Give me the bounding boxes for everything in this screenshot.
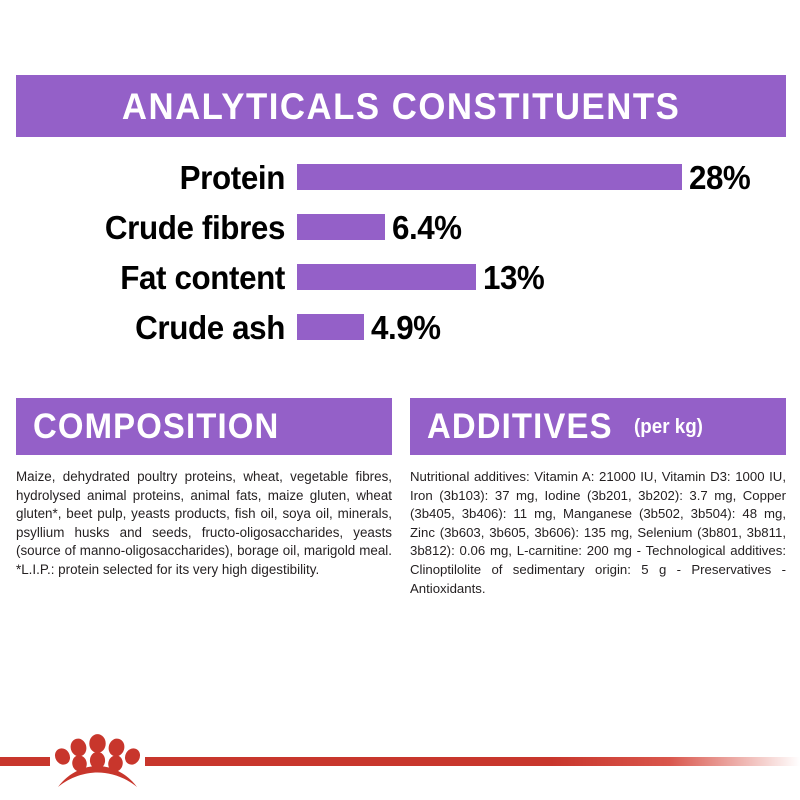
chart-row-crude-ash: Crude ash 4.9% (0, 302, 800, 352)
bar-track-crude-ash: 4.9% (297, 302, 445, 352)
bar-track-protein: 28% (297, 152, 754, 202)
additives-title: ADDITIVES (427, 409, 613, 444)
bar-fill-protein (297, 164, 682, 190)
bar-track-crude-fibres: 6.4% (297, 202, 465, 252)
additives-unit-label: (per kg) (634, 417, 703, 437)
chart-row-crude-fibres: Crude fibres 6.4% (0, 202, 800, 252)
footer-rule-left (0, 757, 50, 766)
bar-fill-fat-content (297, 264, 476, 290)
composition-text: Maize, dehydrated poultry proteins, whea… (16, 468, 392, 580)
bar-label-crude-ash: Crude ash (14, 302, 285, 352)
composition-panel: COMPOSITION Maize, dehydrated poultry pr… (16, 398, 392, 580)
bar-value-crude-fibres: 6.4% (392, 211, 462, 244)
bar-label-protein: Protein (14, 152, 285, 202)
additives-banner: ADDITIVES (per kg) (410, 398, 786, 455)
bar-label-crude-fibres: Crude fibres (14, 202, 285, 252)
bar-label-fat-content: Fat content (14, 252, 285, 302)
composition-banner: COMPOSITION (16, 398, 392, 455)
bar-fill-crude-ash (297, 314, 364, 340)
additives-panel: ADDITIVES (per kg) Nutritional additives… (410, 398, 786, 598)
bar-value-crude-ash: 4.9% (371, 311, 441, 344)
bar-value-fat-content: 13% (483, 261, 544, 294)
composition-title: COMPOSITION (33, 409, 279, 444)
chart-row-protein: Protein 28% (0, 152, 800, 202)
additives-text: Nutritional additives: Vitamin A: 21000 … (410, 468, 786, 598)
footer-logo-strip (0, 745, 800, 800)
bar-value-protein: 28% (689, 161, 750, 194)
nutrition-panel-page: ANALYTICALS CONSTITUENTS Protein 28% Cru… (0, 0, 800, 800)
chart-row-fat-content: Fat content 13% (0, 252, 800, 302)
footer-rule-right (145, 757, 800, 766)
bar-fill-crude-fibres (297, 214, 385, 240)
analyticals-constituents-banner: ANALYTICALS CONSTITUENTS (16, 75, 786, 137)
bar-track-fat-content: 13% (297, 252, 547, 302)
page-title: ANALYTICALS CONSTITUENTS (122, 88, 680, 125)
analytical-constituents-chart: Protein 28% Crude fibres 6.4% Fat conten… (0, 152, 800, 352)
royal-canin-paw-crown-icon (50, 733, 145, 791)
